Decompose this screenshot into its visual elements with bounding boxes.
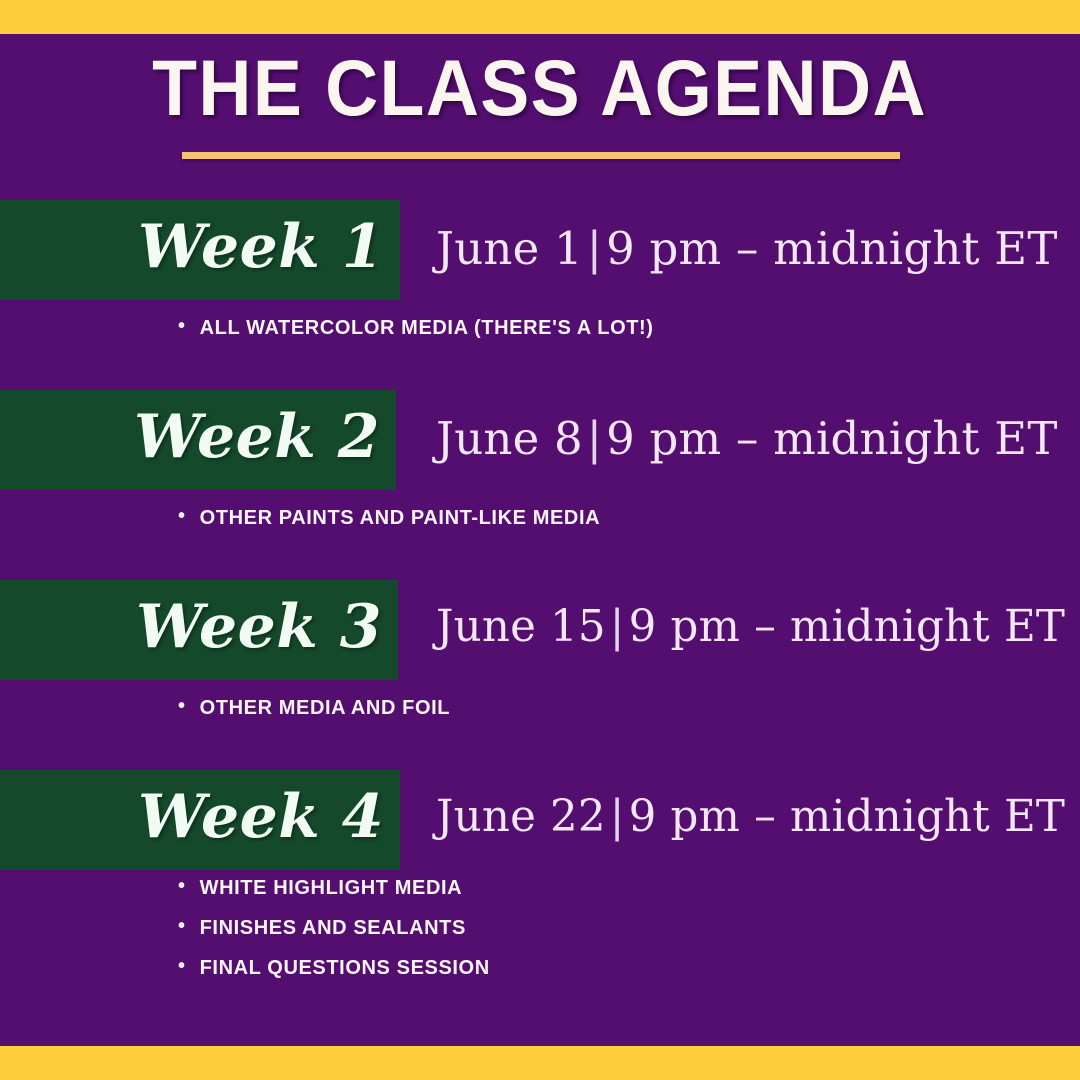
list-item-label: Other Paints and Paint-Like Media (200, 508, 601, 528)
week-time: 9 pm – midnight ET (606, 222, 1057, 275)
agenda-poster: THE CLASS AGENDA Week 1June 1|9 pm – mid… (0, 0, 1080, 1080)
list-item: •All Watercolor Media (There's a lot!) (178, 318, 1078, 338)
bottom-accent-bar (0, 1046, 1080, 1080)
page-title-text: THE CLASS AGENDA (153, 48, 928, 127)
week-time: 9 pm – midnight ET (629, 792, 1065, 842)
week-chip: Week 2 (0, 390, 396, 490)
bullet-icon: • (178, 506, 186, 526)
bullet-icon: • (178, 876, 186, 896)
week-chip: Week 1 (0, 200, 400, 300)
list-item: •Finishes and Sealants (178, 918, 1078, 938)
list-item-label: White Highlight Media (200, 878, 463, 898)
week-topic-list: •White Highlight Media•Finishes and Seal… (178, 878, 1078, 998)
week-chip-label: Week 4 (138, 787, 384, 847)
week-chip: Week 4 (0, 770, 400, 870)
week-chip-label: Week 2 (134, 407, 380, 467)
bullet-icon: • (178, 956, 186, 976)
week-schedule: June 15|9 pm – midnight ET (436, 606, 1065, 650)
week-schedule: June 1|9 pm – midnight ET (436, 226, 1058, 271)
week-topic-list: •Other Media and Foil (178, 698, 1078, 738)
list-item-label: Finishes and Sealants (200, 918, 466, 938)
bullet-icon: • (178, 316, 186, 336)
list-item: •Other Paints and Paint-Like Media (178, 508, 1078, 528)
week-topic-list: •Other Paints and Paint-Like Media (178, 508, 1078, 548)
week-date: June 1 (436, 222, 583, 275)
schedule-separator: | (583, 412, 606, 465)
week-date: June 8 (436, 412, 583, 465)
list-item: •Other Media and Foil (178, 698, 1078, 718)
week-chip: Week 3 (0, 580, 398, 680)
schedule-separator: | (606, 792, 629, 842)
schedule-separator: | (606, 602, 629, 652)
week-chip-label: Week 1 (138, 217, 384, 277)
week-date: June 15 (436, 602, 606, 652)
week-schedule: June 8|9 pm – midnight ET (436, 416, 1058, 461)
bullet-icon: • (178, 696, 186, 716)
week-chip-label: Week 3 (136, 597, 382, 657)
week-time: 9 pm – midnight ET (606, 412, 1057, 465)
schedule-separator: | (583, 222, 606, 275)
list-item-label: Other Media and Foil (200, 698, 451, 718)
page-title: THE CLASS AGENDA (0, 48, 1080, 127)
week-topic-list: •All Watercolor Media (There's a lot!) (178, 318, 1078, 358)
week-date: June 22 (436, 792, 606, 842)
week-time: 9 pm – midnight ET (629, 602, 1065, 652)
list-item: •White Highlight Media (178, 878, 1078, 898)
list-item-label: Final Questions Session (200, 958, 490, 978)
top-accent-bar (0, 0, 1080, 34)
title-divider (182, 152, 900, 159)
bullet-icon: • (178, 916, 186, 936)
list-item: •Final Questions Session (178, 958, 1078, 978)
list-item-label: All Watercolor Media (There's a lot!) (200, 318, 654, 338)
week-schedule: June 22|9 pm – midnight ET (436, 796, 1065, 840)
